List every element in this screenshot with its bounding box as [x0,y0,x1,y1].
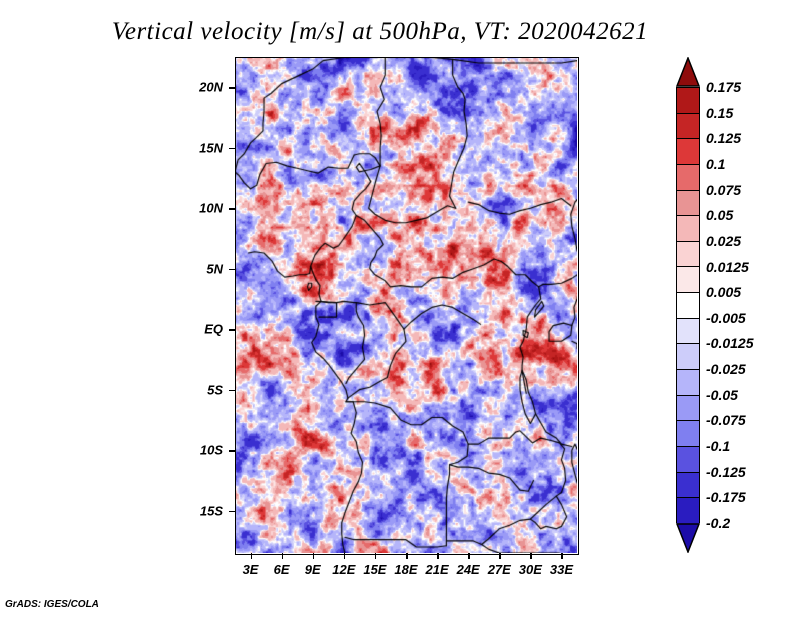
y-axis-tick-label: 15S [200,503,223,518]
colorbar-tick-label: -0.005 [706,310,746,326]
vertical-velocity-heatmap [235,57,577,553]
y-axis-tick [229,148,235,150]
colorbar-swatch [677,293,699,319]
grads-credit: GrADS: IGES/COLA [5,599,99,610]
x-axis-tick [282,553,284,559]
y-axis-tick [229,329,235,331]
x-axis-tick [561,553,563,559]
colorbar-swatch [677,421,699,447]
x-axis-tick [437,553,439,559]
colorbar-swatch [677,396,699,422]
x-axis-tick [530,553,532,559]
y-axis-tick-label: 20N [199,80,223,95]
colorbar-tick-label: -0.175 [706,489,746,505]
y-axis-tick-label: 15N [199,140,223,155]
colorbar [676,57,700,553]
x-axis-tick-label: 18E [394,562,417,577]
y-axis-tick-label: 10S [200,443,223,458]
colorbar-swatch [677,165,699,191]
x-axis-tick-label: 15E [363,562,386,577]
colorbar-tick-label: -0.025 [706,361,746,377]
colorbar-tick-label: 0.05 [706,207,733,223]
x-axis-tick-label: 6E [274,562,290,577]
y-axis-tick-label: 10N [199,201,223,216]
colorbar-swatch [677,473,699,499]
y-axis-tick [229,87,235,89]
x-axis-tick [313,553,315,559]
y-axis-tick-label: 5N [206,261,223,276]
map-plot-area: 3E6E9E12E15E18E21E24E27E30E33E 20N15N10N… [235,57,577,553]
colorbar-tick-label: -0.1 [706,438,730,454]
colorbar-tick-label: -0.0125 [706,335,753,351]
y-axis-tick [229,511,235,513]
y-axis-tick [229,390,235,392]
x-axis-tick-label: 24E [457,562,480,577]
x-axis-tick-label: 27E [488,562,511,577]
x-axis-tick-label: 30E [519,562,542,577]
x-axis-tick-label: 21E [426,562,449,577]
y-axis-tick-label: EQ [204,322,223,337]
colorbar-tick-label: -0.2 [706,515,730,531]
colorbar-swatch [677,267,699,293]
x-axis-tick [375,553,377,559]
page-title: Vertical velocity [m/s] at 500hPa, VT: 2… [0,18,760,46]
colorbar-swatch [677,370,699,396]
y-axis-tick [229,208,235,210]
x-axis-tick [344,553,346,559]
colorbar-segments [676,87,700,523]
colorbar-swatch [677,114,699,140]
colorbar-swatch [677,319,699,345]
colorbar-swatch [677,447,699,473]
x-axis-tick [251,553,253,559]
colorbar-tick-label: 0.025 [706,233,741,249]
colorbar-tick-label: 0.15 [706,105,733,121]
colorbar-swatch [677,88,699,114]
x-axis-tick [406,553,408,559]
x-axis-tick-label: 3E [243,562,259,577]
colorbar-swatch [677,344,699,370]
colorbar-swatch [677,216,699,242]
colorbar-tick-label: 0.0125 [706,259,749,275]
y-axis-tick [229,269,235,271]
x-axis-tick [468,553,470,559]
colorbar-tick-label: -0.075 [706,412,746,428]
colorbar-tick-label: -0.05 [706,387,738,403]
colorbar-bottom-arrow [676,523,700,553]
colorbar-tick-label: 0.005 [706,284,741,300]
colorbar-top-arrow [676,57,700,87]
y-axis-tick [229,450,235,452]
colorbar-tick-label: 0.175 [706,79,741,95]
colorbar-tick-label: 0.075 [706,182,741,198]
colorbar-tick-label: 0.125 [706,130,741,146]
x-axis-tick-label: 33E [550,562,573,577]
y-axis-tick-label: 5S [207,382,223,397]
colorbar-swatch [677,242,699,268]
colorbar-swatch [677,139,699,165]
colorbar-swatch [677,498,699,524]
colorbar-swatch [677,191,699,217]
x-axis-tick [499,553,501,559]
x-axis-tick-label: 12E [332,562,355,577]
colorbar-tick-label: -0.125 [706,464,746,480]
x-axis-tick-label: 9E [305,562,321,577]
colorbar-tick-label: 0.1 [706,156,725,172]
